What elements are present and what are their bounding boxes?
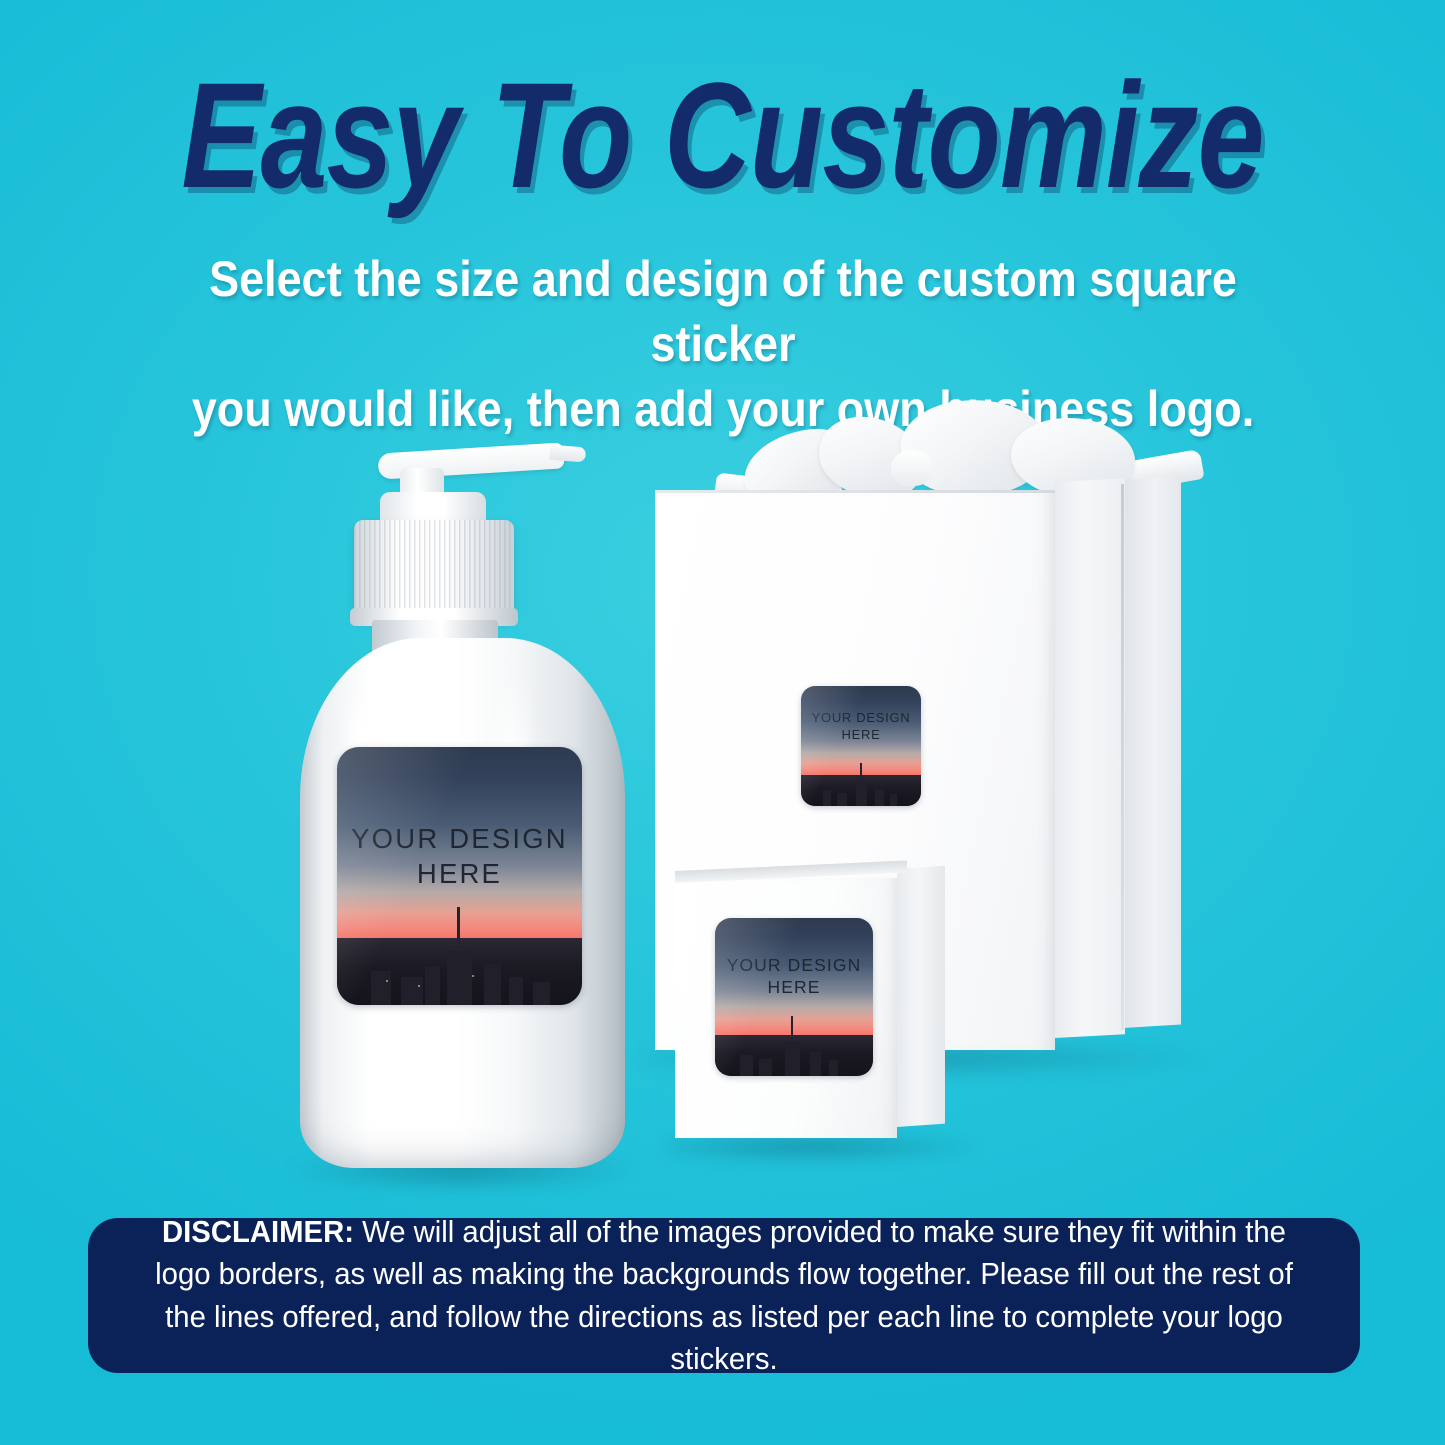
- sticker-text: YOUR DESIGN HERE: [801, 710, 921, 743]
- small-box-side-panel: [897, 866, 945, 1127]
- sticker-building: [401, 977, 423, 1005]
- gift-box-seam: [1121, 484, 1124, 1030]
- small-box-mockup: YOUR DESIGN HERE: [675, 862, 975, 1152]
- sticker-city-light: [386, 980, 388, 982]
- sticker-building: [371, 971, 391, 1005]
- promo-poster: Easy To Customize Select the size and de…: [0, 0, 1445, 1445]
- sticker-spire: [457, 907, 460, 953]
- sticker-building: [875, 789, 883, 806]
- sticker-city-light: [418, 985, 420, 987]
- sticker-building: [533, 982, 550, 1005]
- sticker-on-small-box: YOUR DESIGN HERE: [715, 918, 873, 1076]
- pump-ribbed-collar: [354, 520, 514, 618]
- sticker-text: YOUR DESIGN HERE: [337, 821, 582, 891]
- gift-box-lid-edge: [655, 490, 1055, 493]
- pump-bottle-mockup: YOUR DESIGN HERE: [292, 430, 632, 1175]
- sticker-building: [759, 1059, 772, 1076]
- disclaimer-text: DISCLAIMER: We will adjust all of the im…: [148, 1211, 1300, 1379]
- sticker-city-light: [472, 975, 474, 977]
- sticker-on-gift-box: YOUR DESIGN HERE: [801, 686, 921, 806]
- sticker-building: [856, 782, 867, 806]
- disclaimer-label: DISCLAIMER:: [162, 1215, 354, 1249]
- sticker-building: [829, 1060, 838, 1076]
- sticker-building: [740, 1055, 753, 1076]
- sticker-building: [509, 977, 524, 1005]
- sticker-building: [785, 1041, 801, 1076]
- sticker-on-bottle: YOUR DESIGN HERE: [337, 747, 582, 1005]
- sticker-text: YOUR DESIGN HERE: [715, 954, 873, 999]
- sticker-building: [823, 790, 831, 806]
- ribbon-knot: [891, 450, 933, 486]
- sticker-building: [447, 951, 472, 1005]
- sticker-building: [425, 966, 440, 1005]
- sticker-building: [890, 794, 897, 806]
- sticker-building: [810, 1052, 821, 1076]
- sticker-spire: [791, 1016, 793, 1043]
- sticker-building: [484, 964, 501, 1005]
- gift-box-side-panel-back: [1123, 477, 1181, 1028]
- gift-box-side-panel: [1055, 478, 1125, 1038]
- sticker-spire: [860, 763, 862, 782]
- disclaimer-banner: DISCLAIMER: We will adjust all of the im…: [88, 1218, 1360, 1373]
- sticker-building: [837, 793, 847, 806]
